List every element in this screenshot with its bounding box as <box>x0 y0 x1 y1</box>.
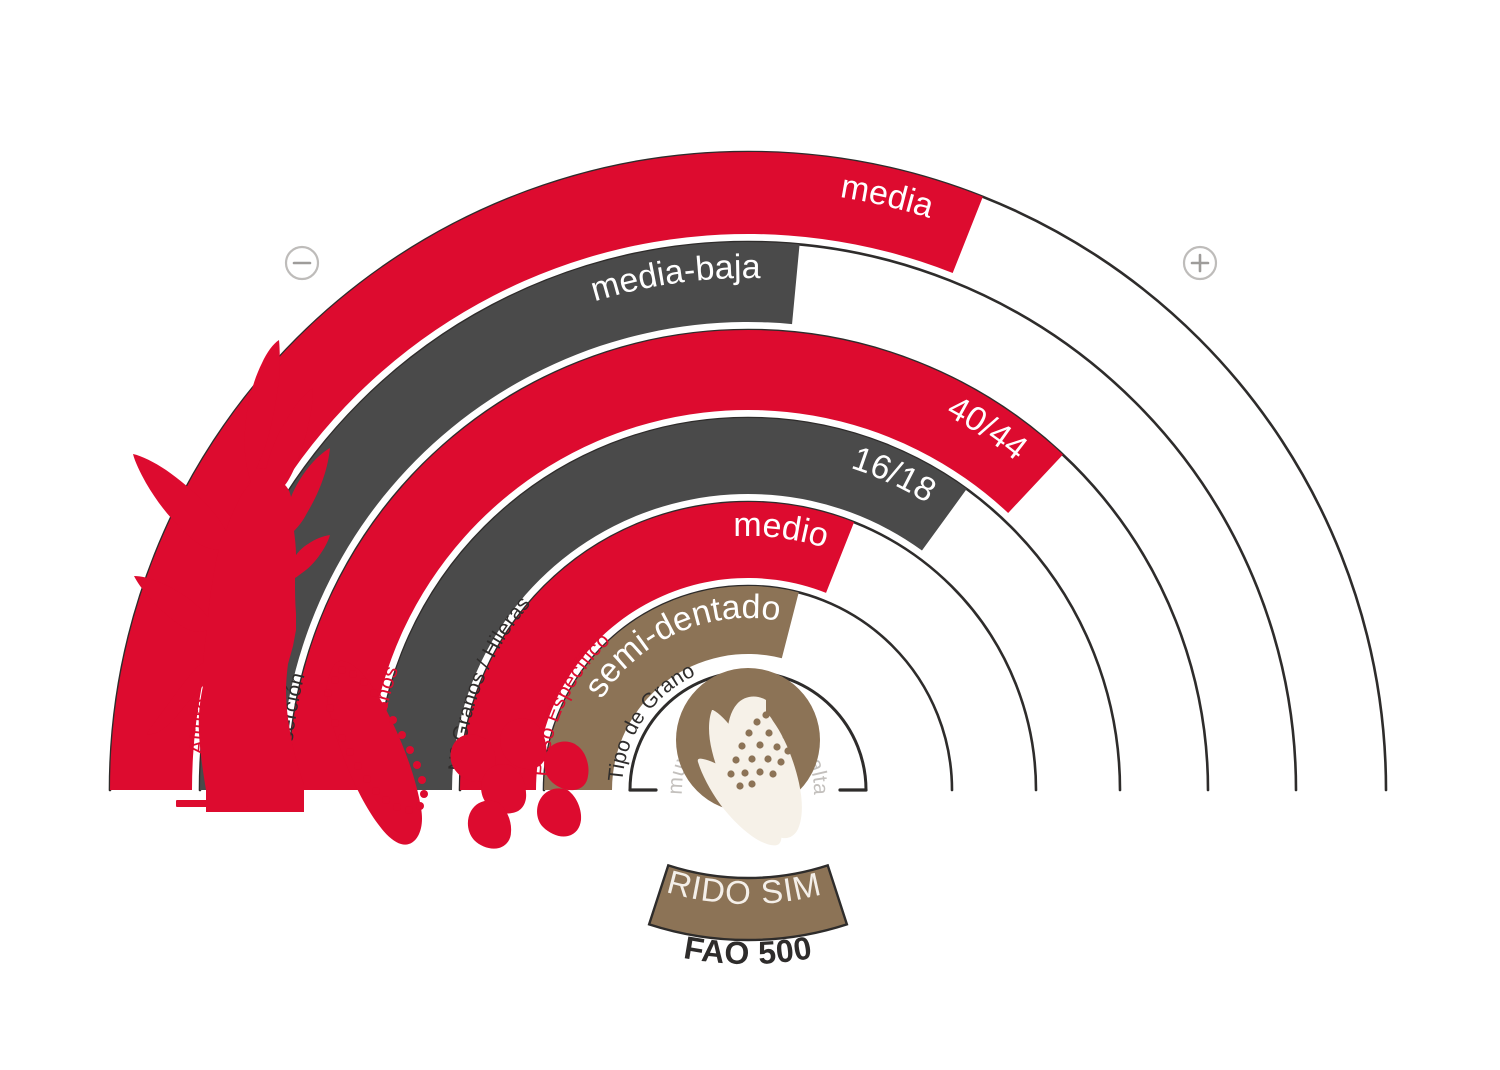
fao-label: FAO 500 <box>681 929 814 971</box>
minus-circle-icon[interactable] <box>286 247 318 279</box>
infographic-root: AlturaInserciónNº GranosNº Granos / Hile… <box>0 0 1500 1070</box>
plus-circle-icon[interactable] <box>1184 247 1216 279</box>
center-medallion[interactable] <box>676 668 820 845</box>
radial-chart-svg: AlturaInserciónNº GranosNº Granos / Hile… <box>0 0 1500 1070</box>
